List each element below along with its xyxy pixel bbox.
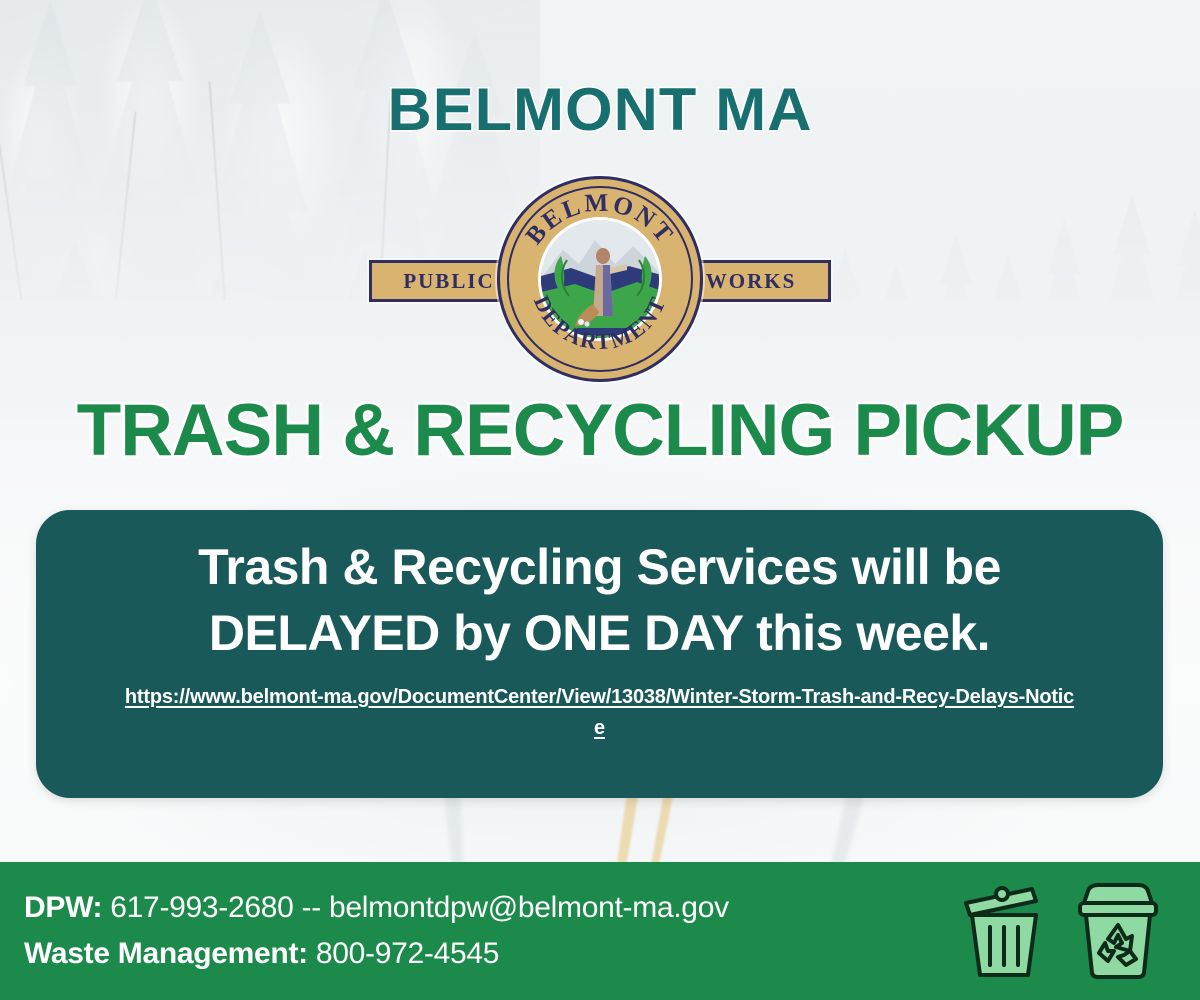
notice-line-1: Trash & Recycling Services will be xyxy=(76,534,1123,600)
page-title: BELMONT MA xyxy=(0,80,1200,140)
footer-label-waste-management: Waste Management: xyxy=(24,937,308,970)
seal-ring-text: BELMONT DEPARTMENT xyxy=(500,179,700,379)
footer-label-dpw: DPW: xyxy=(24,891,102,924)
headline-trash-recycling-pickup: TRASH & RECYCLING PICKUP xyxy=(0,394,1200,467)
footer-row-dpw: DPW: 617-993-2680 -- belmontdpw@belmont-… xyxy=(24,885,958,932)
belmont-dpw-seal: PUBLIC WORKS xyxy=(365,176,835,382)
footer-value-dpw: 617-993-2680 -- belmontdpw@belmont-ma.go… xyxy=(102,891,729,924)
svg-text:DEPARTMENT: DEPARTMENT xyxy=(529,292,671,354)
notice-card: Trash & Recycling Services will be DELAY… xyxy=(36,510,1163,798)
poster-canvas: BELMONT MA PUBLIC WORKS xyxy=(0,0,1200,1000)
svg-text:BELMONT: BELMONT xyxy=(521,190,679,250)
recycling-bin-icon xyxy=(1072,881,1164,981)
notice-url-link[interactable]: https://www.belmont-ma.gov/DocumentCente… xyxy=(76,682,1123,744)
footer-value-waste-management: 800-972-4545 xyxy=(308,937,499,970)
seal-disc: BELMONT DEPARTMENT xyxy=(497,176,703,382)
trash-can-icon xyxy=(958,881,1050,981)
footer-row-waste-management: Waste Management: 800-972-4545 xyxy=(24,931,958,978)
footer-contact-lines: DPW: 617-993-2680 -- belmontdpw@belmont-… xyxy=(24,885,958,978)
contact-footer: DPW: 617-993-2680 -- belmontdpw@belmont-… xyxy=(0,862,1200,1000)
notice-line-2: DELAYED by ONE DAY this week. xyxy=(76,600,1123,666)
footer-icon-group xyxy=(958,881,1174,981)
